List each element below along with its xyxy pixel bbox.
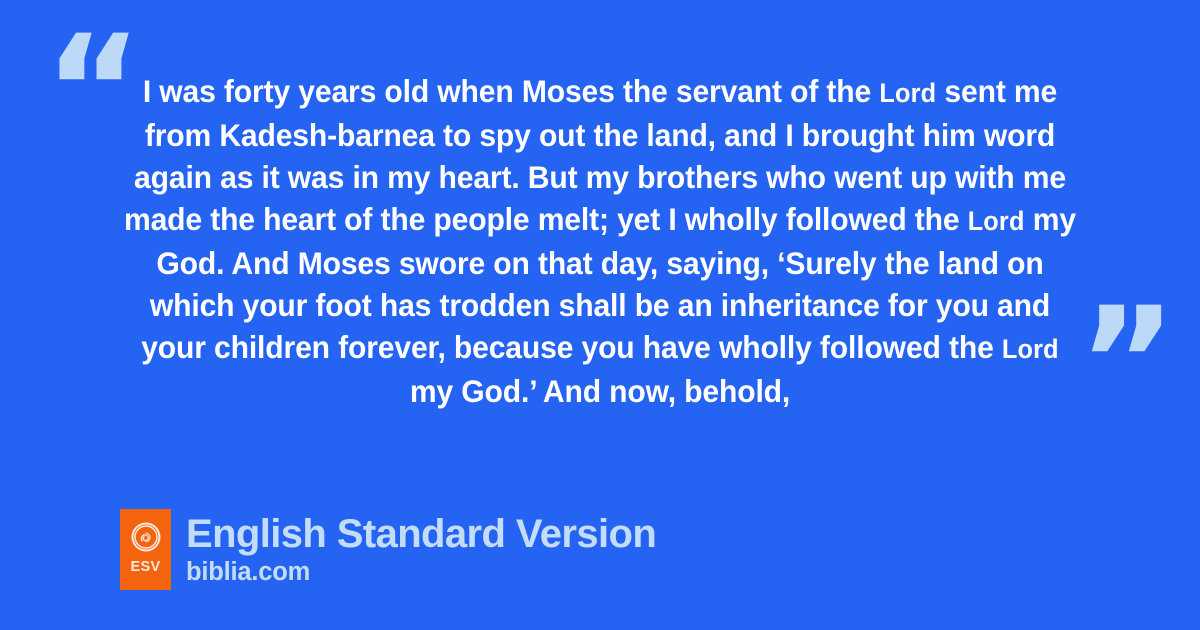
closing-quotation-mark-icon: ” — [1078, 288, 1175, 438]
divine-name-3: Lord — [1002, 334, 1059, 364]
esv-logo-label: ESV — [120, 559, 171, 575]
quote-segment-4: my God.’ And now, behold, — [410, 373, 790, 409]
verse-quote-text: I was forty years old when Moses the ser… — [123, 70, 1078, 412]
brand-footer: ESV English Standard Version biblia.com — [120, 509, 656, 590]
esv-logo: ESV — [120, 509, 171, 590]
brand-name-group: English Standard Version biblia.com — [186, 509, 656, 587]
divine-name-2: Lord — [968, 206, 1025, 236]
bible-version-title: English Standard Version — [186, 511, 656, 557]
site-url: biblia.com — [186, 557, 656, 587]
esv-seal-icon — [131, 522, 161, 552]
verse-image-card: “ I was forty years old when Moses the s… — [0, 0, 1200, 630]
divine-name-1: Lord — [879, 78, 936, 108]
quote-segment-1: I was forty years old when Moses the ser… — [143, 73, 879, 109]
